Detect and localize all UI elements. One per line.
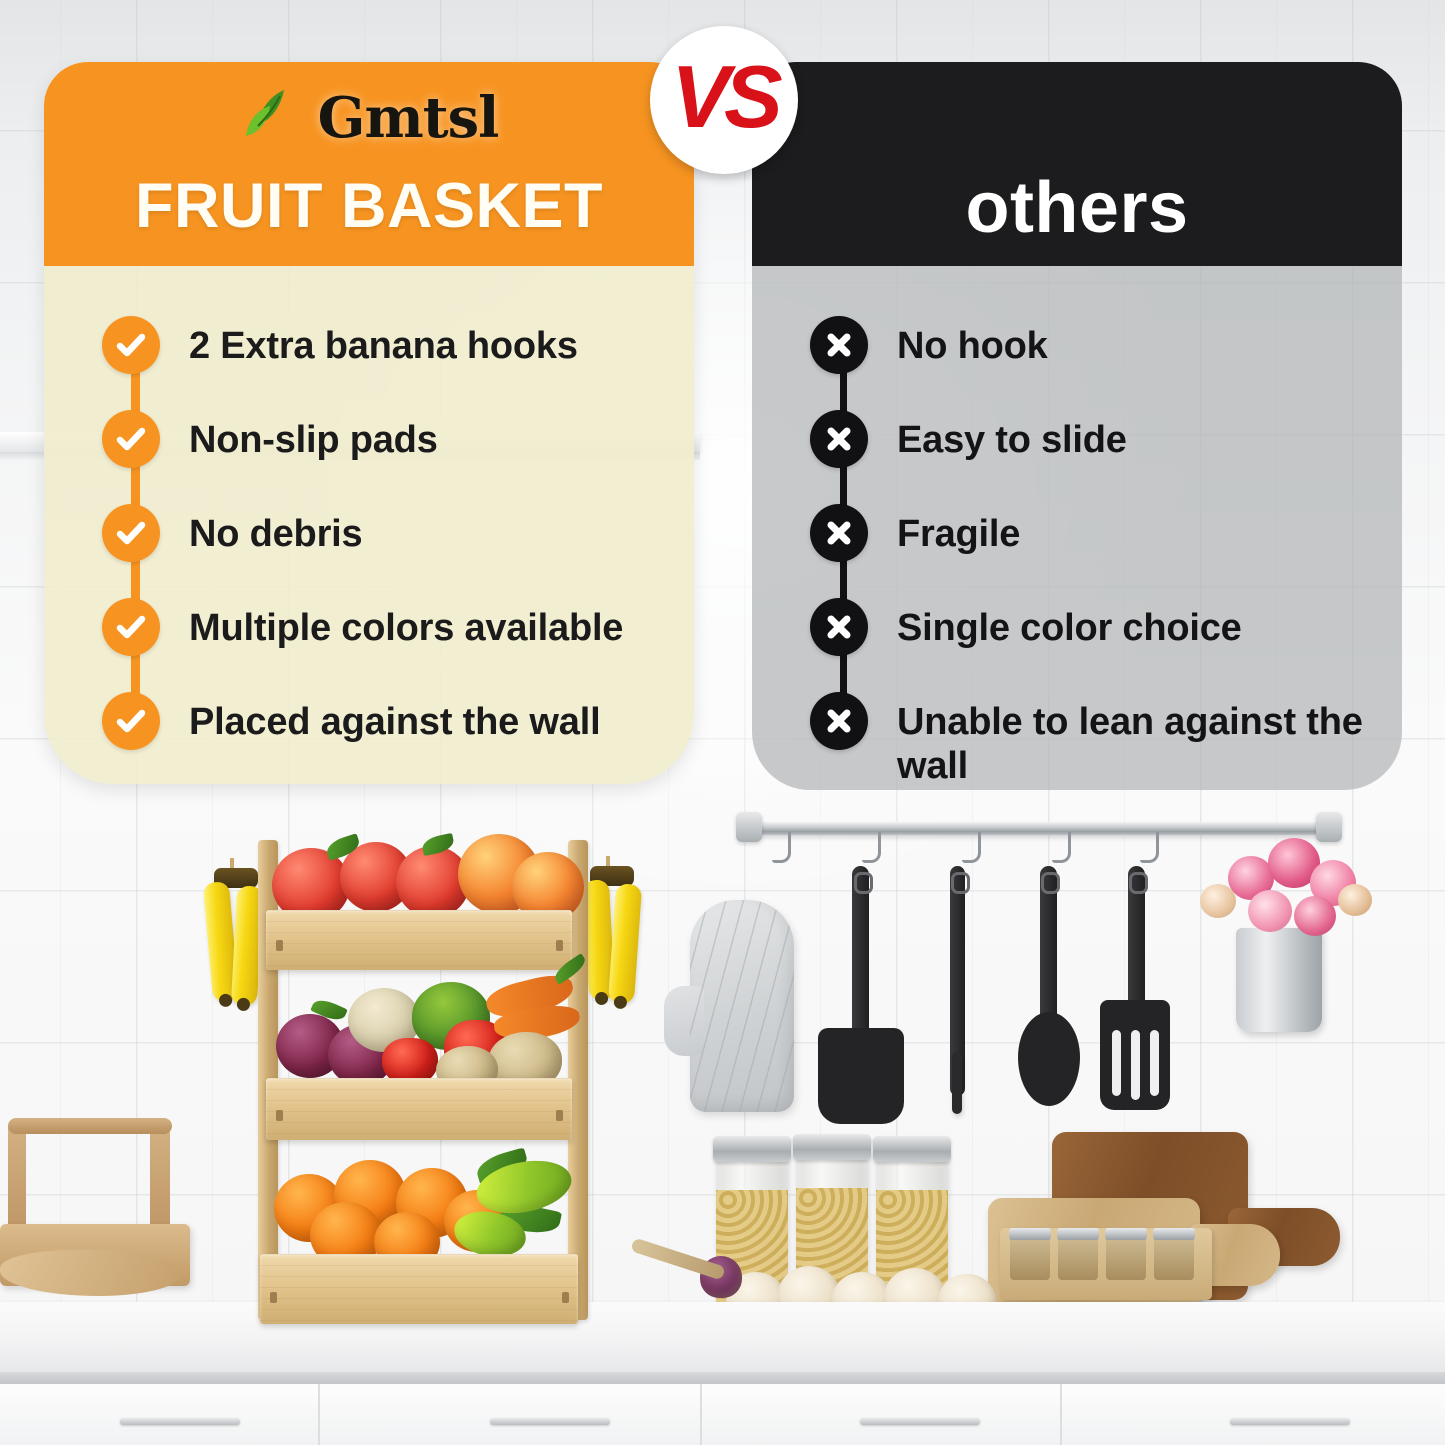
feature-row-1: 2 Extra banana hooks (102, 316, 578, 374)
rail-mount-left (736, 812, 762, 842)
drawback-row-4: Single color choice (810, 598, 1242, 656)
feature-label-1: 2 Extra banana hooks (189, 316, 578, 368)
pasta-jar-lid-2 (793, 1134, 871, 1160)
cabinet-seam-2 (700, 1384, 702, 1445)
spice-cap-4 (1153, 1228, 1195, 1240)
check-icon (102, 692, 160, 750)
oven-mitt-stitching (690, 900, 794, 1112)
cross-icon (810, 598, 868, 656)
feature-label-4: Multiple colors available (189, 598, 623, 650)
basket-peg-1 (276, 940, 283, 951)
turner-slot-2 (1131, 1030, 1140, 1100)
feature-row-5: Placed against the wall (102, 692, 600, 750)
cabinet-seam-3 (1060, 1384, 1062, 1445)
drawback-row-2: Easy to slide (810, 410, 1127, 468)
cross-icon (810, 316, 868, 374)
spice-jar-2 (1058, 1236, 1098, 1280)
drawback-label-1: No hook (897, 316, 1048, 368)
whisk-hang-hole (951, 872, 970, 894)
basket-tier-3-front (260, 1254, 578, 1324)
whisk-tip (952, 1052, 962, 1114)
feature-row-3: No debris (102, 504, 362, 562)
feature-row-4: Multiple colors available (102, 598, 623, 656)
drawback-row-5: Unable to lean against the wall (810, 692, 1410, 789)
basket-tier-2-front (266, 1078, 572, 1140)
cabinet-handle-4 (1230, 1418, 1350, 1425)
spice-cap-1 (1009, 1228, 1051, 1240)
utensil-rail (748, 822, 1338, 835)
drawback-row-1: No hook (810, 316, 1048, 374)
drawback-label-3: Fragile (897, 504, 1020, 556)
own-product-feature-list: 2 Extra banana hooks Non-slip pads No de… (44, 62, 694, 784)
flower-cup (1236, 928, 1322, 1032)
spatula-head (818, 1028, 904, 1124)
cross-icon (810, 692, 868, 750)
drawback-label-2: Easy to slide (897, 410, 1127, 462)
dried-bloom-2 (1338, 884, 1372, 916)
rail-hook-2 (862, 832, 881, 863)
drawback-row-3: Fragile (810, 504, 1020, 562)
rail-hook-3 (962, 832, 981, 863)
rail-hook-1 (772, 832, 791, 863)
check-icon (102, 598, 160, 656)
dried-bloom-1 (1200, 884, 1236, 918)
turner-slot-3 (1150, 1030, 1159, 1096)
banana-right-2 (608, 883, 642, 1005)
fruit-basket-product (200, 830, 640, 1330)
spice-jar-4 (1154, 1236, 1194, 1280)
rail-mount-right (1316, 812, 1342, 842)
vs-badge: VS (650, 26, 798, 174)
drawback-label-5: Unable to lean against the wall (897, 692, 1410, 789)
basket-tier-1-front (266, 910, 572, 970)
pasta-jar-lid-3 (873, 1136, 951, 1162)
feature-label-2: Non-slip pads (189, 410, 438, 462)
basket-peg-4 (556, 1110, 563, 1121)
spice-cap-2 (1057, 1228, 1099, 1240)
spatula-hang-hole (854, 872, 873, 894)
rail-hook-4 (1052, 832, 1071, 863)
basket-peg-3 (276, 1110, 283, 1121)
feature-row-2: Non-slip pads (102, 410, 438, 468)
turner-slot-1 (1112, 1030, 1121, 1096)
pasta-jar-lid-1 (713, 1136, 791, 1162)
spice-jar-3 (1106, 1236, 1146, 1280)
check-icon (102, 316, 160, 374)
spoon-hang-hole (1041, 872, 1060, 894)
check-icon (102, 410, 160, 468)
check-icon (102, 504, 160, 562)
caddy-handle (8, 1118, 172, 1134)
turner-hang-hole (1129, 872, 1148, 894)
cabinet-seam-1 (318, 1384, 320, 1445)
basket-peg-6 (562, 1292, 569, 1303)
cross-icon (810, 504, 868, 562)
comparison-panel-others: others No hook Easy to slide Frag (752, 62, 1402, 790)
cross-icon (810, 410, 868, 468)
cabinet-handle-1 (120, 1418, 240, 1425)
infographic-canvas: Gmtsl FRUIT BASKET 2 Extra banana hooks … (0, 0, 1445, 1445)
spice-cap-3 (1105, 1228, 1147, 1240)
basket-peg-2 (556, 940, 563, 951)
spoon-head (1018, 1012, 1080, 1106)
cabinet-handle-2 (490, 1418, 610, 1425)
others-drawback-list: No hook Easy to slide Fragile Single col… (752, 62, 1402, 790)
feature-label-5: Placed against the wall (189, 692, 600, 744)
rose-4 (1248, 890, 1292, 932)
rose-5 (1294, 896, 1336, 936)
rail-hook-5 (1140, 832, 1159, 863)
cabinet-handle-3 (860, 1418, 980, 1425)
spice-jar-1 (1010, 1236, 1050, 1280)
basket-peg-5 (270, 1292, 277, 1303)
drawback-label-4: Single color choice (897, 598, 1242, 650)
vs-label: VS (671, 53, 776, 141)
feature-label-3: No debris (189, 504, 362, 556)
countertop-edge (0, 1372, 1445, 1384)
lower-cabinets (0, 1384, 1445, 1445)
comparison-panel-own-product: Gmtsl FRUIT BASKET 2 Extra banana hooks … (44, 62, 694, 784)
